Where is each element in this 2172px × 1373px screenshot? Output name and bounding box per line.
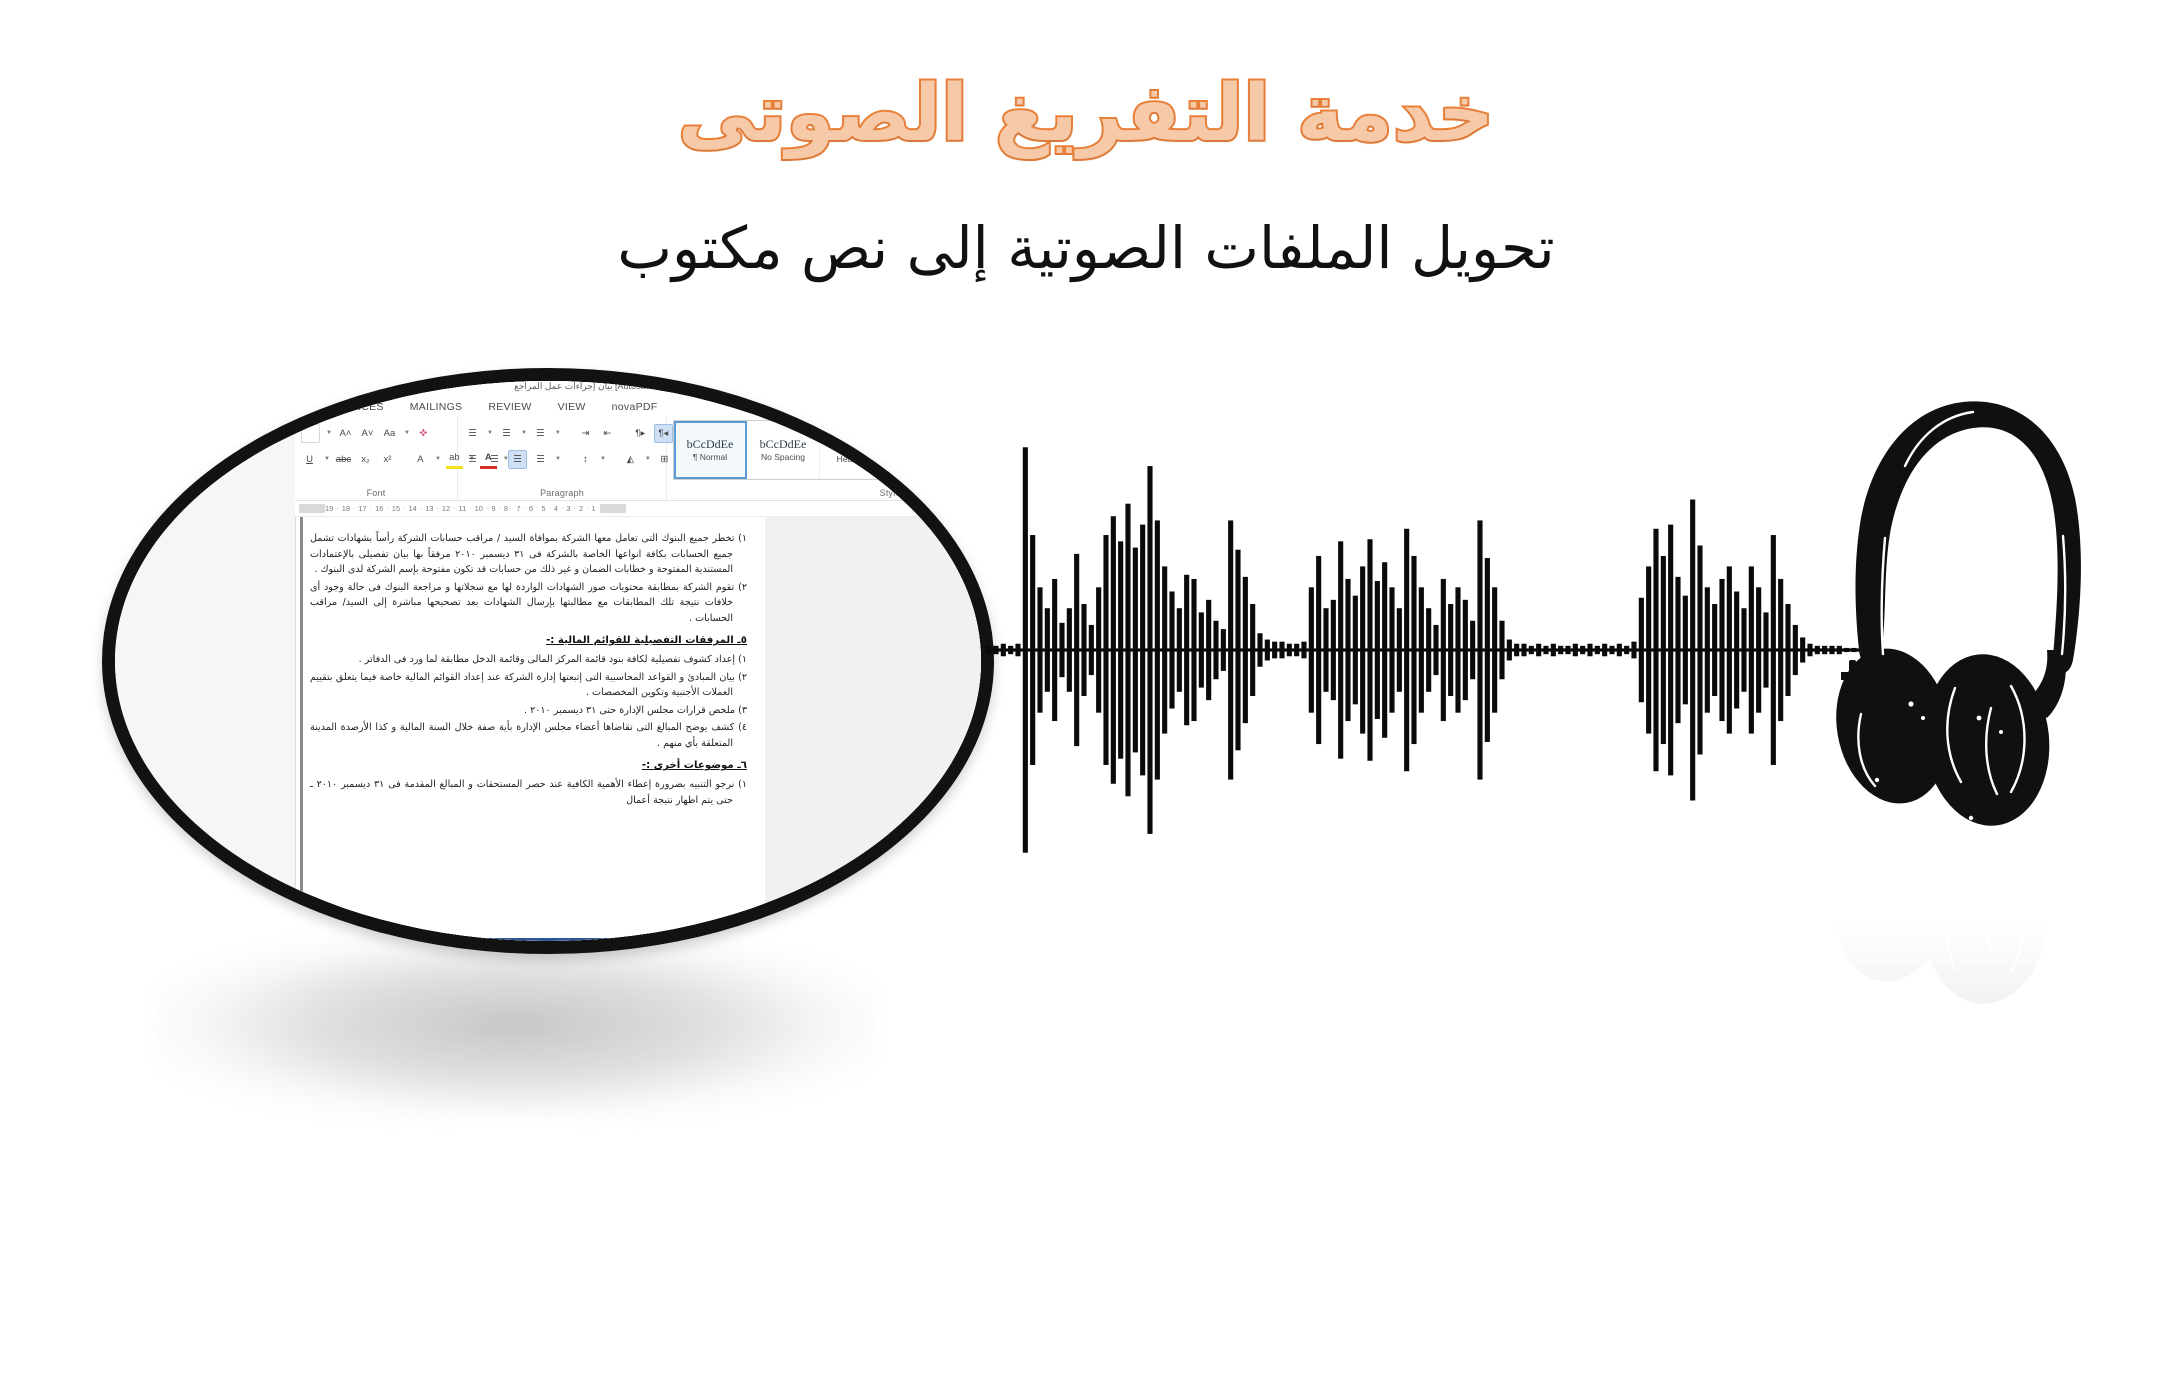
ruler-margin-left xyxy=(299,504,325,513)
chevron-down-icon[interactable]: ▼ xyxy=(404,430,410,436)
ruler-mark: 7 xyxy=(516,504,520,513)
chevron-down-icon[interactable]: ▼ xyxy=(487,430,493,436)
underline-icon[interactable]: U xyxy=(301,451,318,468)
ruler-mark: 16 xyxy=(375,504,383,513)
page-subtitle: تحويل الملفات الصوتية إلى نص مكتوب xyxy=(617,215,1554,282)
chevron-down-icon[interactable]: ▼ xyxy=(600,456,606,462)
line-spacing-icon[interactable]: ↕ xyxy=(577,451,594,468)
ruler-mark: 6 xyxy=(529,504,533,513)
style-sample-heading-1: ƆDdEe xyxy=(834,437,878,452)
group-label-styles: Styles xyxy=(673,488,994,500)
shading-icon[interactable]: ◭ xyxy=(622,451,639,468)
style-sample-no-spacing: bCcDdEe xyxy=(760,438,807,450)
chevron-down-icon[interactable]: ▼ xyxy=(555,430,561,436)
ruler-ticks: 19· 18· 17· 16· 15· 14· 13· 12· 11· 10· … xyxy=(325,504,596,513)
style-no-spacing[interactable]: bCcDdEe No Spacing xyxy=(747,421,820,479)
ribbon-group-styles: bCcDdEe ¶ Normal bCcDdEe No Spacing ƆDdE… xyxy=(667,416,994,500)
clear-formatting-icon[interactable]: ✜ xyxy=(415,425,432,442)
chevron-down-icon[interactable]: ▼ xyxy=(521,430,527,436)
chevron-down-icon[interactable]: ▼ xyxy=(435,456,441,462)
poster-canvas: خدمة التفريغ الصوتى تحويل الملفات الصوتي… xyxy=(0,0,2172,1373)
paragraph-group-row-1: ☰ ▼ ☰ ▼ ☰ ▼ ⇥ ⇤ ¶▸ ¶◂ ↕ xyxy=(464,420,660,446)
ruler-mark: 4 xyxy=(554,504,558,513)
style-name-heading-1: Heading 1 xyxy=(837,454,876,464)
chevron-down-icon[interactable]: ▼ xyxy=(326,430,332,436)
audio-waveform xyxy=(985,430,1865,870)
headphones-icon xyxy=(1815,388,2115,858)
doc-list-item: ١) نرجو التنبيه بضرورة إعطاء الأهمية الك… xyxy=(310,777,747,808)
ruler-mark: 17 xyxy=(358,504,366,513)
doc-section-heading-5: ٥ـ المرفقات التفصيلية للقوائم المالية :- xyxy=(310,635,747,646)
ruler-mark: 11 xyxy=(459,504,467,513)
ribbon-group-font: ▼ A˄ A˅ Aa ▼ ✜ U ▼ abc x₂ x² xyxy=(295,416,458,500)
ruler-mark: 18 xyxy=(342,504,350,513)
style-sample-heading-2: ƆcDdEe xyxy=(904,437,955,452)
page-title: خدمة التفريغ الصوتى xyxy=(678,74,1494,156)
decrease-indent-icon[interactable]: ⇥ xyxy=(577,425,594,442)
styles-gallery[interactable]: bCcDdEe ¶ Normal bCcDdEe No Spacing ƆDdE… xyxy=(673,420,994,480)
ltr-text-direction-icon[interactable]: ¶▸ xyxy=(632,425,649,442)
style-name-no-spacing: No Spacing xyxy=(761,452,805,462)
tab-view[interactable]: VIEW xyxy=(558,401,586,413)
ruler-mark: 1 xyxy=(591,504,595,513)
headphones-reflection xyxy=(1815,862,2115,1162)
font-size-field[interactable] xyxy=(301,424,320,443)
word-page[interactable]: ١) تخطر جميع البنوك التى تعامل معها الشر… xyxy=(295,517,765,949)
tab-novapdf[interactable]: novaPDF xyxy=(612,401,658,413)
text-selection-highlight xyxy=(342,938,719,947)
doc-paragraph: ٢) تقوم الشركة بمطابقة محتويات صور الشها… xyxy=(310,580,747,627)
style-name-heading-2: Heading 2 xyxy=(910,454,949,464)
chevron-down-icon[interactable]: ▼ xyxy=(555,456,561,462)
bullets-icon[interactable]: ☰ xyxy=(464,425,481,442)
doc-list-item: ٣) ملخص قرارات مجلس الإدارة حتى ٣١ ديسمب… xyxy=(310,703,747,719)
word-application-screenshot: بيان إجراءات عمل المراجع [Autosaved] [Co… xyxy=(295,375,994,954)
word-document-area: ١) تخطر جميع البنوك التى تعامل معها الشر… xyxy=(295,517,994,949)
ruler-mark: 9 xyxy=(491,504,495,513)
ruler-mark: 8 xyxy=(504,504,508,513)
ruler-mark: 12 xyxy=(442,504,450,513)
text-effects-icon[interactable]: A xyxy=(412,451,429,468)
ruler-mark: 14 xyxy=(408,504,416,513)
group-label-paragraph: Paragraph xyxy=(464,488,660,500)
align-left-icon[interactable]: ☰ xyxy=(464,451,481,468)
subscript-icon[interactable]: x₂ xyxy=(357,451,374,468)
align-center-icon[interactable]: ☰ xyxy=(486,451,503,468)
word-ruler[interactable]: 19· 18· 17· 16· 15· 14· 13· 12· 11· 10· … xyxy=(295,501,994,517)
superscript-icon[interactable]: x² xyxy=(379,451,396,468)
page-title-wrapper: خدمة التفريغ الصوتى xyxy=(0,74,2172,156)
style-name-normal: ¶ Normal xyxy=(693,452,727,462)
word-titlebar: بيان إجراءات عمل المراجع [Autosaved] [Co… xyxy=(295,375,994,397)
style-normal[interactable]: bCcDdEe ¶ Normal xyxy=(674,421,747,479)
ellipse-inner-background: بيان إجراءات عمل المراجع [Autosaved] [Co… xyxy=(115,381,981,941)
doc-paragraph: ١) تخطر جميع البنوك التى تعامل معها الشر… xyxy=(310,531,747,578)
multilevel-list-icon[interactable]: ☰ xyxy=(532,425,549,442)
increase-indent-icon[interactable]: ⇤ xyxy=(599,425,616,442)
style-heading-2[interactable]: ƆcDdEe Heading 2 xyxy=(893,421,966,479)
paragraph-group-row-2: ☰ ☰ ☰ ☰ ▼ ↕ ▼ ◭ ▼ ⊞ ▼ xyxy=(464,446,660,472)
change-case-icon[interactable]: Aa xyxy=(381,425,398,442)
group-label-font: Font xyxy=(301,488,451,500)
ruler-mark: 5 xyxy=(541,504,545,513)
ruler-mark: 2 xyxy=(579,504,583,513)
font-group-row-2: U ▼ abc x₂ x² A ▼ ab ▼ A ▼ xyxy=(301,446,451,472)
tab-review[interactable]: REVIEW xyxy=(488,401,531,413)
align-right-icon[interactable]: ☰ xyxy=(508,450,527,469)
tab-references[interactable]: REFERENCES xyxy=(309,401,384,413)
ruler-mark: 15 xyxy=(392,504,400,513)
ruler-margin-right xyxy=(600,504,626,513)
chevron-down-icon[interactable]: ▼ xyxy=(324,456,330,462)
ellipse-drop-shadow xyxy=(155,930,875,1120)
ruler-mark: 3 xyxy=(566,504,570,513)
document-ellipse-frame: بيان إجراءات عمل المراجع [Autosaved] [Co… xyxy=(102,368,994,954)
ruler-mark: 10 xyxy=(475,504,483,513)
doc-list-item: ٤) كشف يوضح المبالغ التى تقاضاها أعضاء م… xyxy=(310,720,747,751)
doc-list-item: ١) إعداد كشوف تفصيلية لكافة بنود قائمة ا… xyxy=(310,652,747,668)
style-sample-normal: bCcDdEe xyxy=(687,438,734,450)
style-heading-1[interactable]: ƆDdEe Heading 1 xyxy=(820,421,893,479)
chevron-down-icon[interactable]: ▼ xyxy=(645,456,651,462)
grow-font-icon[interactable]: A˄ xyxy=(337,425,354,442)
ruler-mark: 13 xyxy=(425,504,433,513)
word-ribbon-tabs: REFERENCES MAILINGS REVIEW VIEW novaPDF xyxy=(295,397,994,416)
page-subtitle-wrapper: تحويل الملفات الصوتية إلى نص مكتوب xyxy=(0,215,2172,282)
word-ribbon: ▼ A˄ A˅ Aa ▼ ✜ U ▼ abc x₂ x² xyxy=(295,416,994,501)
numbering-icon[interactable]: ☰ xyxy=(498,425,515,442)
shrink-font-icon[interactable]: A˅ xyxy=(359,425,376,442)
ruler-mark: 19 xyxy=(325,504,333,513)
ribbon-group-paragraph: ☰ ▼ ☰ ▼ ☰ ▼ ⇥ ⇤ ¶▸ ¶◂ ↕ xyxy=(458,416,667,500)
doc-list-item: ٢) بيان المبادئ و القواعد المحاسبية التى… xyxy=(310,670,747,701)
justify-icon[interactable]: ☰ xyxy=(532,451,549,468)
doc-section-heading-6: ٦ـ موضوعات أخرى :- xyxy=(310,760,747,771)
tab-mailings[interactable]: MAILINGS xyxy=(410,401,463,413)
font-group-row-1: ▼ A˄ A˅ Aa ▼ ✜ xyxy=(301,420,451,446)
strikethrough-icon[interactable]: abc xyxy=(335,451,352,468)
